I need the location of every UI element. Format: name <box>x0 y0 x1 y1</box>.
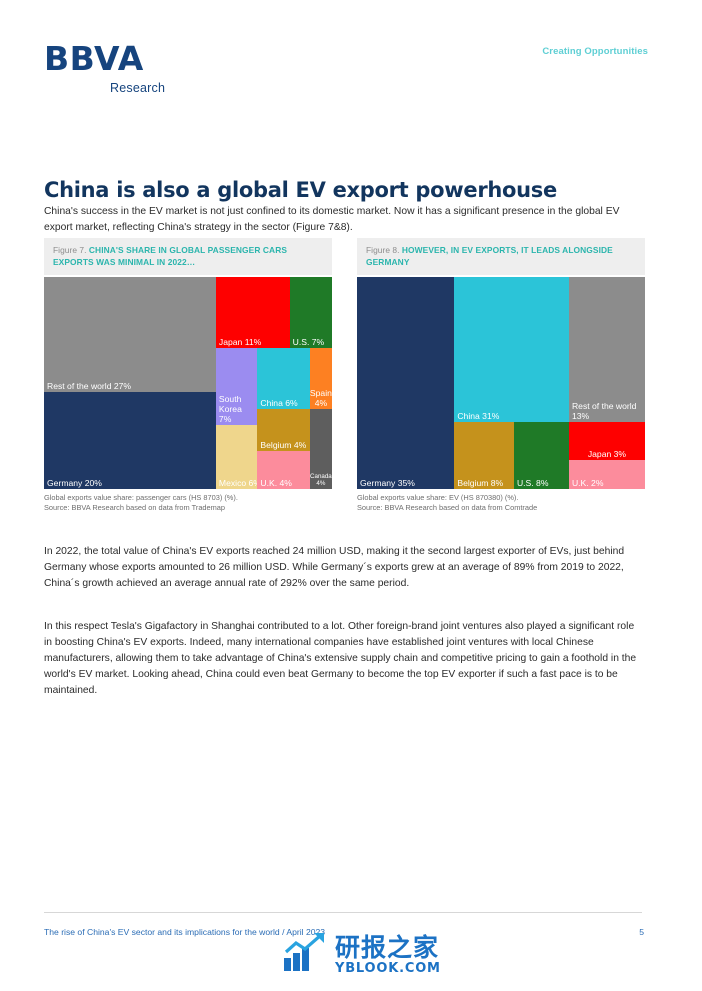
watermark-domain: YBLOOK.COM <box>335 962 441 975</box>
treemap-cell-label: U.S. 7% <box>293 337 325 347</box>
figure-7-caption: Figure 7. CHINA'S SHARE IN GLOBAL PASSEN… <box>44 238 332 275</box>
watermark-text: 研报之家 YBLOOK.COM <box>335 935 441 975</box>
treemap-cell: Japan 3% <box>569 422 645 460</box>
treemap-cell-label: Japan 11% <box>219 337 261 347</box>
treemap-cell: U.S. 8% <box>514 422 569 489</box>
treemap-cell: China 6% <box>257 348 309 409</box>
footer-divider <box>44 912 642 913</box>
figure-8-caption: Figure 8. HOWEVER, IN EV EXPORTS, IT LEA… <box>357 238 645 275</box>
treemap-cell-label: Belgium 8% <box>457 478 503 488</box>
watermark: 研报之家 YBLOOK.COM <box>283 932 441 977</box>
treemap-cell: Canada 4% <box>310 409 332 489</box>
treemap-cell: U.K. 4% <box>257 451 309 489</box>
treemap-cell-label: U.S. 8% <box>517 478 549 488</box>
treemap-cell-label: Mexico 6% <box>219 478 257 488</box>
treemap-cell: China 31% <box>454 277 569 422</box>
treemap-cell: Spain 4% <box>310 348 332 409</box>
treemap-cell-label: Rest of the world 27% <box>47 381 131 391</box>
intro-paragraph: China's success in the EV market is not … <box>44 204 634 235</box>
page-header: BBVA Research Creating Opportunities <box>0 0 702 120</box>
tagline: Creating Opportunities <box>542 46 648 57</box>
figure-8-title: HOWEVER, IN EV EXPORTS, IT LEADS ALONGSI… <box>366 245 613 267</box>
bar-chart-arrow-icon <box>283 932 329 977</box>
treemap-cell: Germany 35% <box>357 277 454 489</box>
page-number: 5 <box>639 927 644 937</box>
body-paragraph-1: In 2022, the total value of China's EV e… <box>44 544 644 592</box>
bbva-research-label: Research <box>110 81 165 95</box>
treemap-cell: Mexico 6% <box>216 425 257 489</box>
figure-7-prefix: Figure 7. <box>53 245 87 255</box>
treemap-cell: Japan 11% <box>216 277 290 348</box>
treemap-cell: Germany 20% <box>44 392 216 489</box>
figure-8-prefix: Figure 8. <box>366 245 400 255</box>
figure-7-note-line1: Global exports value share: passenger ca… <box>44 493 332 503</box>
watermark-chinese: 研报之家 <box>335 935 441 960</box>
treemap-cell-label: China 31% <box>457 411 499 421</box>
treemap-cell-label: Canada 4% <box>310 473 332 488</box>
figure-7-panel: Figure 7. CHINA'S SHARE IN GLOBAL PASSEN… <box>44 238 332 513</box>
figure-8-note-line1: Global exports value share: EV (HS 87038… <box>357 493 645 503</box>
treemap-cell: Rest of the world 27% <box>44 277 216 392</box>
treemap-cell-label: U.K. 2% <box>572 478 604 488</box>
figure-7-treemap: Rest of the world 27%Germany 20%Japan 11… <box>44 277 332 489</box>
treemap-cell-label: China 6% <box>260 398 297 408</box>
treemap-cell: Belgium 4% <box>257 409 309 451</box>
treemap-cell-label: Germany 20% <box>47 478 102 488</box>
figure-8-note: Global exports value share: EV (HS 87038… <box>357 493 645 513</box>
treemap-cell-label: Rest of the world 13% <box>572 401 643 421</box>
figure-8-treemap: Germany 35%China 31%Rest of the world 13… <box>357 277 645 489</box>
bbva-logo: BBVA Research <box>44 42 144 75</box>
treemap-cell: Belgium 8% <box>454 422 514 489</box>
treemap-cell: Rest of the world 13% <box>569 277 645 422</box>
figure-7-note-line2: Source: BBVA Research based on data from… <box>44 503 332 513</box>
treemap-cell-label: Japan 3% <box>569 449 645 459</box>
treemap-cell-label: U.K. 4% <box>260 478 292 488</box>
figure-8-note-line2: Source: BBVA Research based on data from… <box>357 503 645 513</box>
bbva-wordmark: BBVA <box>44 42 144 75</box>
page-title: China is also a global EV export powerho… <box>44 178 644 202</box>
treemap-cell: U.K. 2% <box>569 460 645 489</box>
treemap-cell-label: Belgium 4% <box>260 440 306 450</box>
body-paragraph-2: In this respect Tesla's Gigafactory in S… <box>44 619 644 699</box>
figure-7-note: Global exports value share: passenger ca… <box>44 493 332 513</box>
figure-8-panel: Figure 8. HOWEVER, IN EV EXPORTS, IT LEA… <box>357 238 645 513</box>
treemap-cell: South Korea 7% <box>216 348 257 425</box>
treemap-cell-label: Germany 35% <box>360 478 415 488</box>
treemap-cell: U.S. 7% <box>290 277 332 348</box>
treemap-cell-label: South Korea 7% <box>219 394 255 424</box>
figure-7-title: CHINA'S SHARE IN GLOBAL PASSENGER CARS E… <box>53 245 287 267</box>
treemap-cell-label: Spain 4% <box>310 388 332 408</box>
